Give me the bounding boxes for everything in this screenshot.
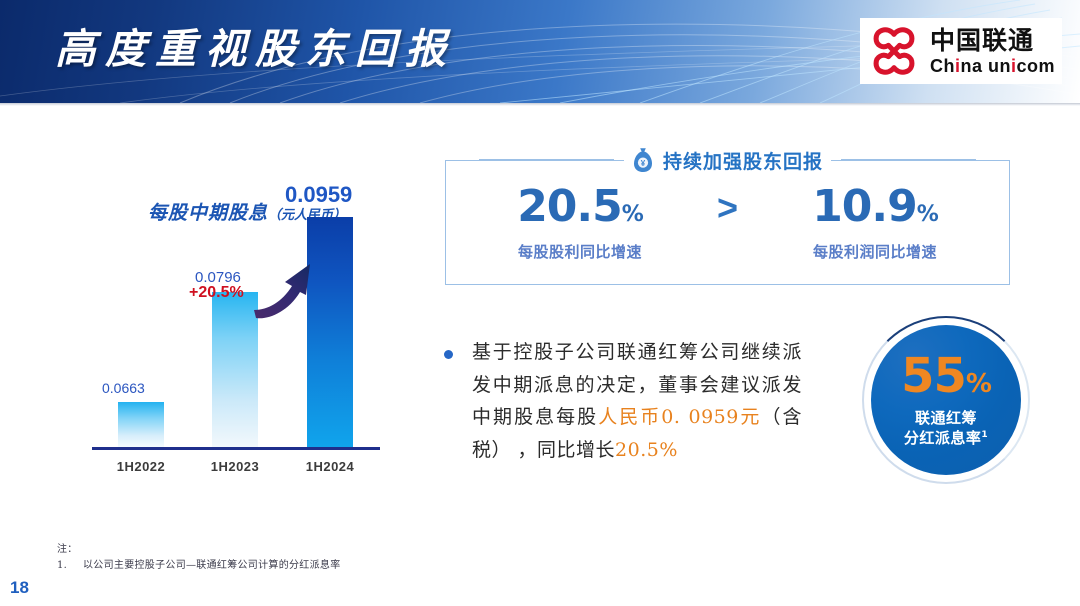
footnote-text: 以公司主要控股子公司—联通红筹公司计算的分红派息率 — [83, 558, 341, 574]
page-number: 18 — [10, 578, 29, 598]
bar-value-1h2024: 0.0959 — [285, 182, 352, 208]
dividend-statement: 基于控股子公司联通红筹公司继续派发中期派息的决定，董事会建议派发中期股息每股人民… — [444, 336, 802, 467]
metric-dividend-caption: 每股股利同比增速 — [473, 241, 688, 262]
payout-ratio-badge: 55% 联通红筹分红派息率1 — [862, 316, 1030, 484]
metric-dividend-growth: 20.5% 每股股利同比增速 — [473, 185, 688, 262]
badge-disc: 55% 联通红筹分红派息率1 — [871, 325, 1021, 475]
footnote-marker: 1 — [981, 430, 988, 440]
comparator-symbol: > — [688, 185, 768, 227]
bullet-point-icon — [444, 350, 453, 359]
x-tick-1h2023: 1H2023 — [195, 459, 275, 474]
growth-arrow-icon — [252, 258, 332, 328]
footnote-heading: 注： — [57, 542, 657, 558]
payout-ratio-label: 联通红筹分红派息率1 — [904, 409, 988, 448]
dividend-statement-text: 基于控股子公司联通红筹公司继续派发中期派息的决定，董事会建议派发中期股息每股人民… — [472, 336, 802, 467]
metric-profit-growth: 10.9% 每股利润同比增速 — [768, 185, 983, 262]
header-center: ¥ 持续加强股东回报 — [624, 147, 831, 174]
metric-profit-value: 10.9% — [768, 185, 983, 229]
page-title: 高度重视股东回报 — [55, 15, 455, 75]
metric-comparison-row: 20.5% 每股股利同比增速 > 10.9% 每股利润同比增速 — [445, 185, 1010, 280]
x-tick-1h2022: 1H2022 — [101, 459, 181, 474]
chart-growth-annotation: +20.5% — [189, 284, 244, 302]
statement-highlight-amount: 人民币0. 0959元 — [598, 406, 761, 428]
bar-1h2022 — [118, 402, 164, 447]
metric-profit-caption: 每股利润同比增速 — [768, 241, 983, 262]
china-unicom-knot-icon — [866, 23, 922, 79]
footnote-index: 1. — [57, 558, 69, 574]
shareholder-return-heading: 持续加强股东回报 — [663, 147, 823, 174]
metric-dividend-value: 20.5% — [473, 185, 688, 229]
chart-x-axis — [92, 447, 380, 450]
shareholder-return-box-header: ¥ 持续加强股东回报 — [445, 146, 1010, 174]
logo-text-cn: 中国联通 — [930, 28, 1055, 53]
bar-value-1h2022: 0.0663 — [102, 380, 145, 396]
chart-plot-area: 0.0663 0.0796 0.0959 1H2022 1H2023 1H202… — [60, 240, 440, 500]
header-rule-right — [841, 159, 976, 161]
footnote-item: 1. 以公司主要控股子公司—联通红筹公司计算的分红派息率 — [57, 558, 657, 574]
header-divider — [0, 103, 1080, 106]
slide: 高度重视股东回报 中国联通 China unicom 每股中期股息（元人民 — [0, 0, 1080, 606]
svg-text:¥: ¥ — [641, 159, 646, 168]
x-tick-1h2024: 1H2024 — [290, 459, 370, 474]
money-bag-icon: ¥ — [632, 147, 654, 173]
brand-logo: 中国联通 China unicom — [860, 18, 1062, 84]
payout-ratio-value: 55% — [901, 352, 991, 400]
dividend-bar-chart: 每股中期股息（元人民币） 0.0663 0.0796 0.0959 1H2022… — [60, 190, 440, 530]
header-rule-left — [479, 159, 614, 161]
footnote-block: 注： 1. 以公司主要控股子公司—联通红筹公司计算的分红派息率 — [57, 542, 657, 574]
logo-text-en: China unicom — [930, 57, 1055, 75]
statement-highlight-growth: 20.5% — [615, 439, 678, 461]
slide-header: 高度重视股东回报 中国联通 China unicom — [0, 0, 1080, 103]
bar-1h2024 — [307, 217, 353, 447]
